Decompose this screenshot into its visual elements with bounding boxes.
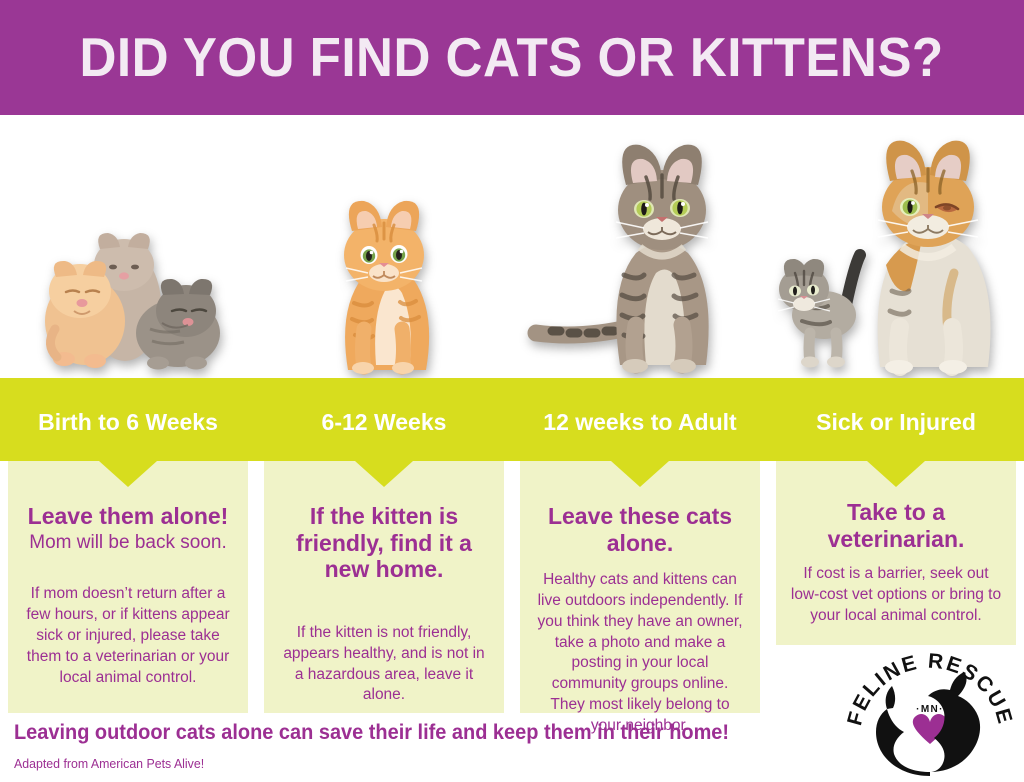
advice-panel-sick-or-injured: Take to a veterinarian. If cost is a bar… <box>776 461 1016 645</box>
category-label-sick-or-injured: Sick or Injured <box>768 406 1024 438</box>
footer-credit: Adapted from American Pets Alive! <box>14 757 489 770</box>
category-label-6-12-weeks: 6-12 Weeks <box>256 406 512 438</box>
advice-panel-6-12-weeks: If the kitten is friendly, find it a new… <box>264 461 504 713</box>
panel-notch-icon <box>99 461 157 487</box>
newborn-kittens-illustration <box>0 115 256 378</box>
page-header: DID YOU FIND CATS OR KITTENS? <box>0 0 1024 115</box>
photo-strip <box>0 115 1024 378</box>
cat-paw-icon <box>886 686 896 709</box>
panel-body: If mom doesn’t return after a few hours,… <box>22 584 234 688</box>
panel-notch-icon <box>355 461 413 487</box>
panel-subheading: Mom will be back soon. <box>22 532 234 555</box>
panel-notch-icon <box>611 461 669 487</box>
advice-panel-12-weeks-to-adult: Leave these cats alone. Healthy cats and… <box>520 461 760 713</box>
page-title: DID YOU FIND CATS OR KITTENS? <box>80 30 944 85</box>
photo-sick-injured-cats <box>768 115 1024 378</box>
category-label-birth-to-6-weeks: Birth to 6 Weeks <box>0 406 256 438</box>
feline-rescue-logo-mark: FELINE RESCUE ·MN· <box>846 652 1014 777</box>
photo-adult-tabby-cat <box>512 115 768 378</box>
footer-tagline: Leaving outdoor cats alone can save thei… <box>14 722 774 743</box>
logo-arc-text: FELINE RESCUE <box>846 652 1014 728</box>
infographic-page: DID YOU FIND CATS OR KITTENS? <box>0 0 1024 777</box>
photo-newborn-kittens <box>0 115 256 378</box>
logo-center-text: ·MN· <box>916 704 944 715</box>
advice-panel-birth-to-6-weeks: Leave them alone! Mom will be back soon.… <box>8 461 248 713</box>
category-band: Birth to 6 Weeks 6-12 Weeks 12 weeks to … <box>0 378 1024 461</box>
orange-kitten-illustration <box>256 115 512 378</box>
adult-tabby-illustration <box>512 115 768 378</box>
svg-text:FELINE RESCUE: FELINE RESCUE <box>846 652 1014 728</box>
category-label-12-weeks-to-adult: 12 weeks to Adult <box>512 406 768 438</box>
panel-notch-icon <box>867 461 925 487</box>
sick-injured-illustration <box>768 115 1024 378</box>
feline-rescue-logo: FELINE RESCUE ·MN· <box>846 652 1014 777</box>
panel-body: Healthy cats and kittens can live outdoo… <box>534 570 746 736</box>
panel-body: If cost is a barrier, seek out low-cost … <box>790 564 1002 626</box>
panel-body: If the kitten is not friendly, appears h… <box>278 623 490 706</box>
photo-orange-kitten <box>256 115 512 378</box>
